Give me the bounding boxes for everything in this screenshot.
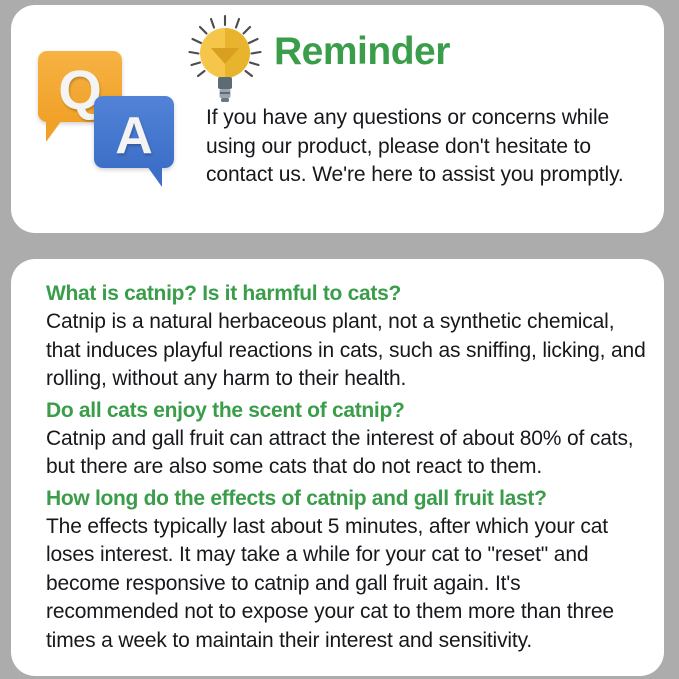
faq-question: How long do the effects of catnip and ga… <box>46 484 654 513</box>
faq-list: What is catnip? Is it harmful to cats? C… <box>46 279 654 657</box>
answer-bubble-tail <box>147 166 162 187</box>
faq-answer: The effects typically last about 5 minut… <box>46 513 654 656</box>
answer-bubble-icon: A <box>94 96 174 168</box>
reminder-body-text: If you have any questions or concerns wh… <box>206 104 648 190</box>
faq-item: Do all cats enjoy the scent of catnip? C… <box>46 396 654 482</box>
faq-item: How long do the effects of catnip and ga… <box>46 484 654 656</box>
faq-answer: Catnip is a natural herbaceous plant, no… <box>46 308 654 394</box>
reminder-card-inner: Q A <box>11 5 664 233</box>
faq-answer: Catnip and gall fruit can attract the in… <box>46 425 654 482</box>
lightbulb-icon <box>187 13 263 109</box>
reminder-title: Reminder <box>274 32 450 71</box>
faq-card: What is catnip? Is it harmful to cats? C… <box>11 259 664 676</box>
faq-item: What is catnip? Is it harmful to cats? C… <box>46 279 654 394</box>
reminder-card: Q A <box>11 5 664 233</box>
question-bubble-tail <box>46 120 62 142</box>
answer-bubble-letter: A <box>94 110 174 162</box>
qa-bubbles-icon: Q A <box>36 43 171 178</box>
faq-question: What is catnip? Is it harmful to cats? <box>46 279 654 308</box>
faq-question: Do all cats enjoy the scent of catnip? <box>46 396 654 425</box>
